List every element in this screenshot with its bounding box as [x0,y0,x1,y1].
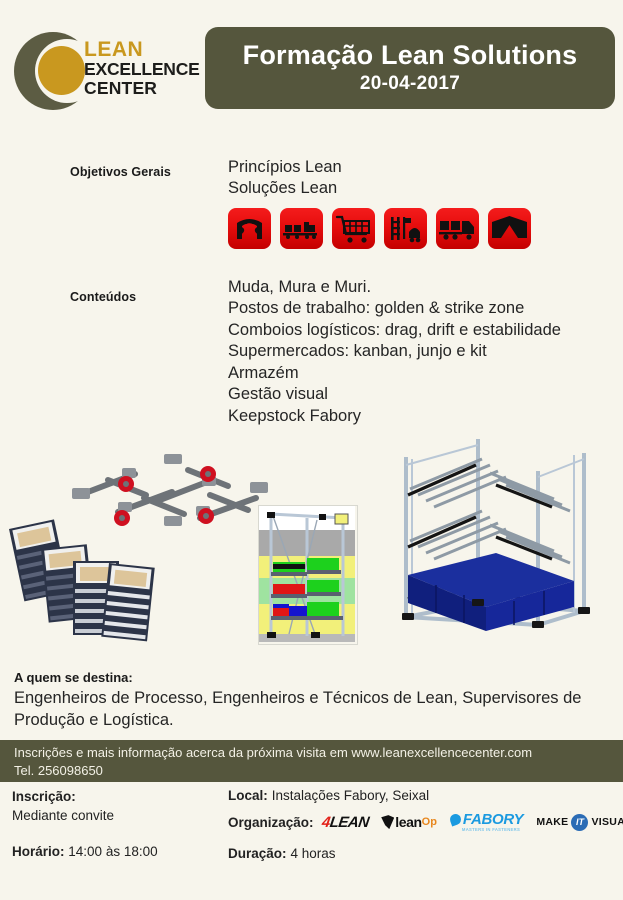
fabory-logo-top: FABORY [450,812,523,827]
registration-info[interactable]: Inscrições e mais informação acerca da p… [14,745,532,760]
stacked-trolleys-photo [5,505,205,650]
contents-line: Supermercados: kanban, junjo e kit [228,341,561,362]
contents-line: Armazém [228,363,561,384]
local-label: Local: [228,788,268,803]
objective-icon-row [228,208,531,249]
contents-line: Muda, Mura e Muri. [228,277,561,298]
warehouse-icon [488,208,531,249]
local-row: Local: Instalações Fabory, Seixal [228,788,618,803]
golden-zone-diagram [258,505,358,645]
audience-text: Engenheiros de Processo, Engenheiros e T… [14,688,612,732]
audience-label: A quem se destina: [14,670,133,685]
leanop-logo-text: lean [395,814,421,830]
duracao-value: 4 horas [291,846,336,861]
image-gallery [0,420,623,660]
fabory-logo-tagline: MASTERS IN FASTENERS [462,828,523,832]
event-date: 20-04-2017 [360,73,460,95]
makeitvisual-it-badge: IT [571,814,588,831]
makeitvisual-visual-text: VISUAL [591,816,623,828]
registration-phone: Tel. 256098650 [14,763,103,778]
organizacao-label: Organização: [228,815,314,830]
poster-header: LEAN EXCELLENCE CENTER Formação Lean Sol… [0,24,623,120]
contents-line: Comboios logísticos: drag, drift e estab… [228,320,561,341]
duracao-label: Duração: [228,846,287,861]
title-banner: Formação Lean Solutions 20-04-2017 [205,27,615,109]
leanop-tick-icon [381,815,394,829]
fabory-logo[interactable]: FABORY MASTERS IN FASTENERS [450,812,523,832]
crescent-logo-icon [14,32,92,110]
inscricao-value: Mediante convite [12,807,222,826]
workstation-icon [228,208,271,249]
makeitvisual-logo[interactable]: MAKE IT VISUAL [536,814,623,831]
footer-right-column: Local: Instalações Fabory, Seixal Organi… [228,788,618,870]
horario-block: Horário: 14:00 às 18:00 [12,843,222,862]
poster-root: LEAN EXCELLENCE CENTER Formação Lean Sol… [0,0,623,900]
objectives-line: Soluções Lean [228,178,342,199]
fourlean-logo-text: LEAN [328,814,369,831]
leanop-logo-suffix: Op [422,816,437,828]
local-value: Instalações Fabory, Seixal [272,788,429,803]
truck-icon [436,208,479,249]
fabory-swoosh-icon [448,812,462,826]
contents-line: Postos de trabalho: golden & strike zone [228,298,561,319]
registration-band: Inscrições e mais informação acerca da p… [0,740,623,782]
page-title: Formação Lean Solutions [243,41,578,69]
logo-line-center: CENTER [84,80,200,98]
organizacao-row: Organização: 4LEAN lean Op FABORY [228,812,618,832]
duracao-row: Duração: 4 horas [228,846,618,861]
lean-excellence-center-logo: LEAN EXCELLENCE CENTER [14,28,199,112]
leanop-logo[interactable]: lean Op [381,814,437,830]
logo-line-excellence: EXCELLENCE [84,61,200,79]
forklift-icon [384,208,427,249]
objectives-list: Princípios Lean Soluções Lean [228,157,342,200]
gold-circle-icon [38,46,85,95]
shopping-cart-icon [332,208,375,249]
inscricao-label: Inscrição: [12,789,76,804]
inscricao-block: Inscrição: Mediante convite [12,788,222,825]
contents-line: Gestão visual [228,384,561,405]
objectives-line: Princípios Lean [228,157,342,178]
fabory-logo-text: FABORY [463,812,523,827]
contents-label: Conteúdos [70,290,136,304]
horario-value: 14:00 às 18:00 [68,844,157,859]
partner-logo-row: 4LEAN lean Op FABORY MASTERS IN FASTENER… [322,812,623,832]
footer-details: Inscrição: Mediante convite Horário: 14:… [0,782,623,900]
logistics-train-icon [280,208,323,249]
footer-left-column: Inscrição: Mediante convite Horário: 14:… [12,788,222,862]
contents-list: Muda, Mura e Muri. Postos de trabalho: g… [228,277,561,427]
flow-rack-photo [378,425,608,650]
objectives-label: Objetivos Gerais [70,165,171,179]
horario-label: Horário: [12,844,65,859]
makeitvisual-make-text: MAKE [536,816,568,828]
logo-line-lean: LEAN [84,39,200,60]
logo-wordmark: LEAN EXCELLENCE CENTER [84,39,200,97]
fourlean-logo[interactable]: 4LEAN [320,814,369,831]
